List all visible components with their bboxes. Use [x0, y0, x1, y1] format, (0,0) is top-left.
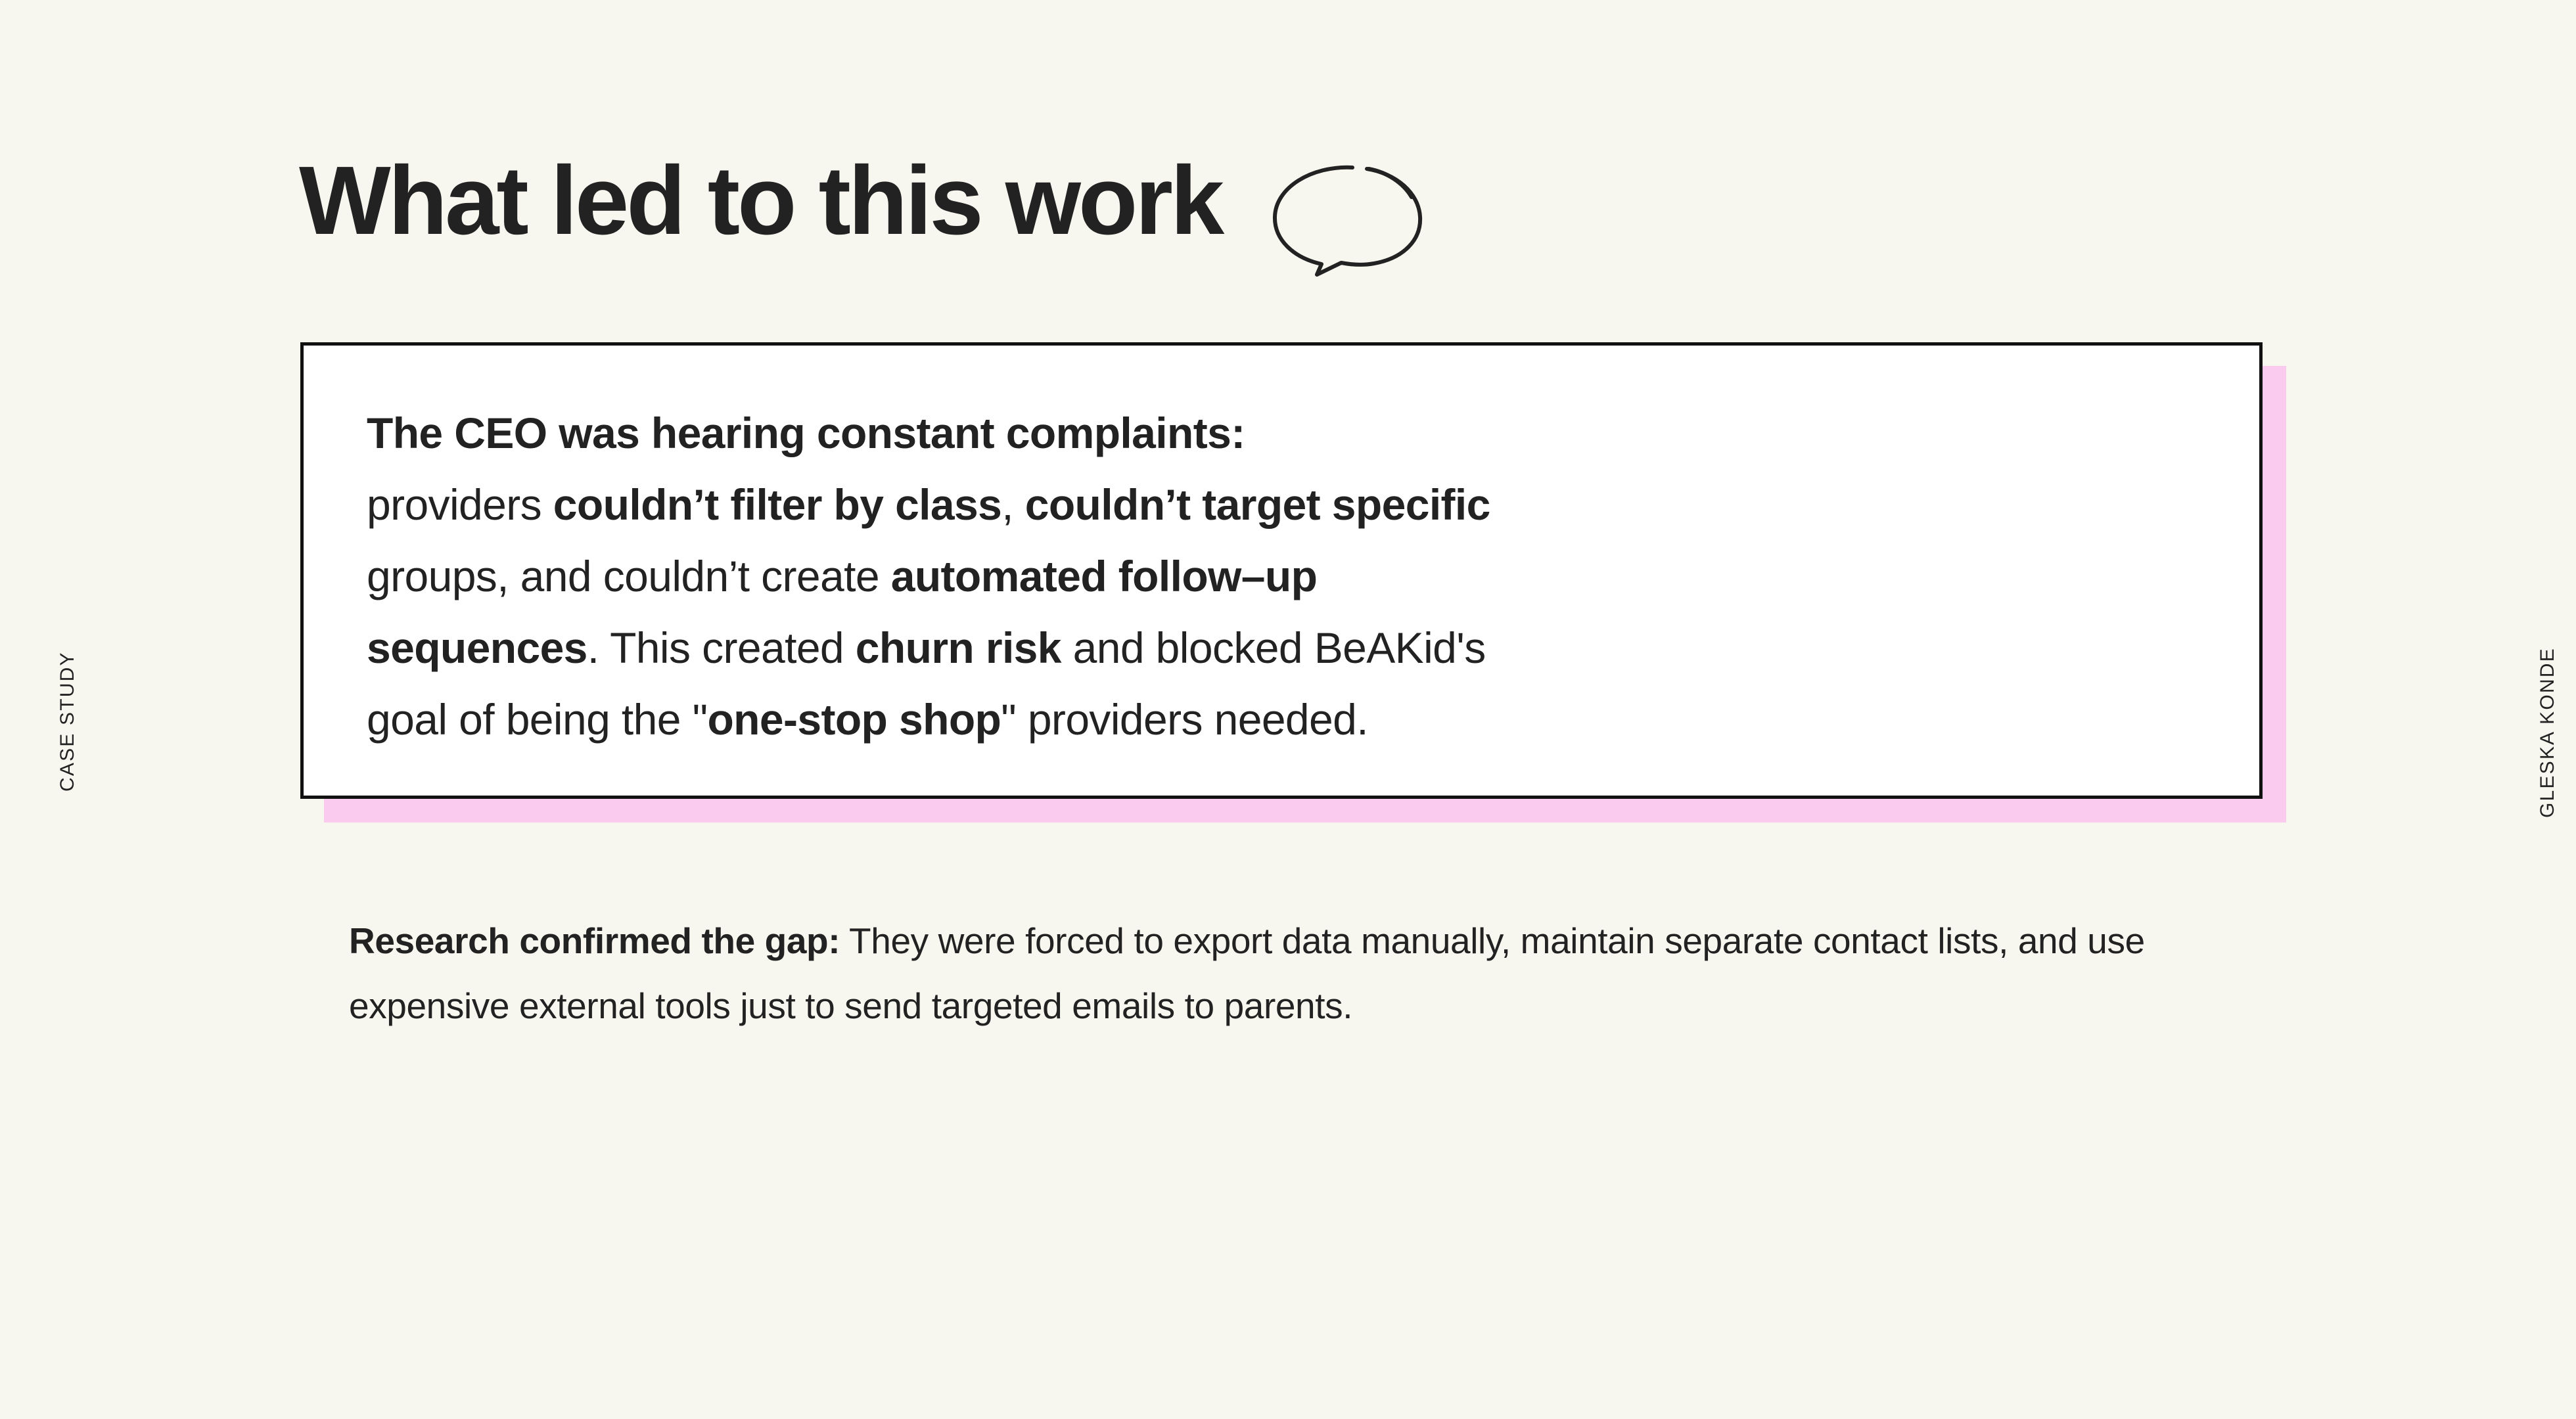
callout-line: sequences. This created churn risk and b…	[367, 612, 2196, 684]
callout-line: providers couldn’t filter by class, coul…	[367, 469, 2196, 541]
research-paragraph: Research confirmed the gap: They were fo…	[349, 909, 2228, 1039]
callout-line: The CEO was hearing constant complaints:	[367, 397, 2196, 469]
speech-bubble-icon	[1265, 162, 1429, 279]
research-lead: Research confirmed the gap:	[349, 920, 840, 961]
slide-root: CASE STUDY GLESKA KONDE What led to this…	[0, 0, 2576, 1419]
brand-label: GLESKA KONDE	[2537, 647, 2559, 818]
page-title: What led to this work	[299, 152, 1222, 250]
callout-card: The CEO was hearing constant complaints:…	[300, 342, 2263, 799]
header: What led to this work	[299, 152, 1429, 279]
card-body: The CEO was hearing constant complaints:…	[300, 342, 2263, 799]
case-study-label: CASE STUDY	[57, 651, 79, 792]
callout-line: groups, and couldn’t create automated fo…	[367, 541, 2196, 612]
callout-line: goal of being the "one-stop shop" provid…	[367, 684, 2196, 755]
callout-text: The CEO was hearing constant complaints:…	[367, 397, 2196, 755]
